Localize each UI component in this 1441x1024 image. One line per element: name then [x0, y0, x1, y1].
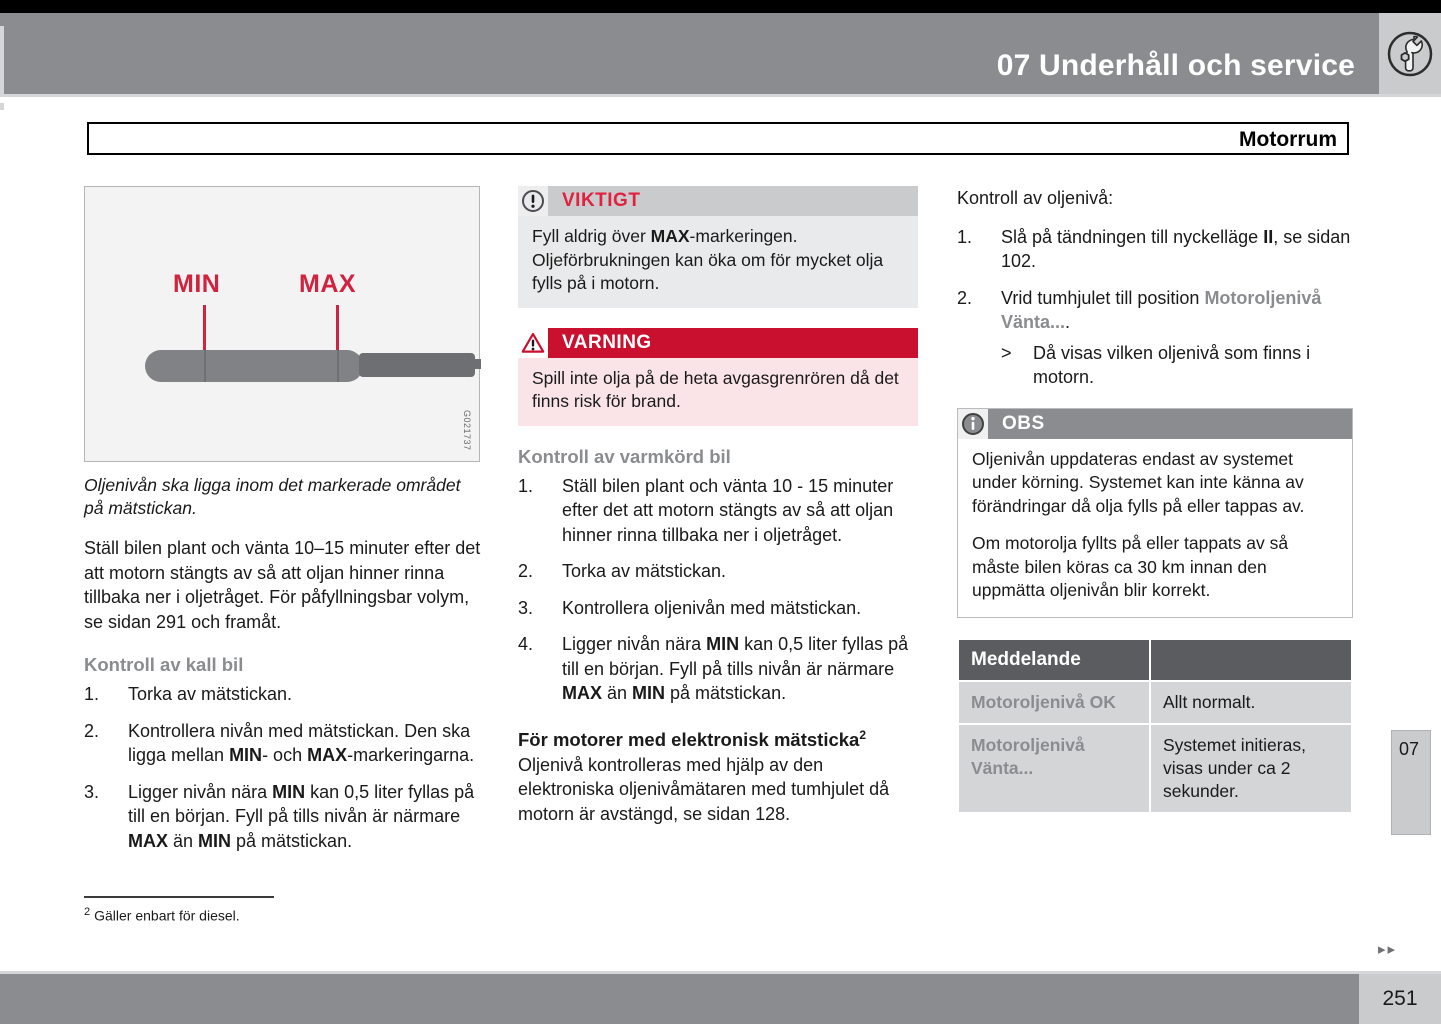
- list-item: 3.Ligger nivån nära MIN kan 0,5 liter fy…: [84, 780, 482, 854]
- list-item: 1.Torka av mätstickan.: [84, 682, 482, 707]
- chapter-side-tab: 07: [1391, 730, 1431, 835]
- step-text-part: Vrid tumhjulet till position: [1001, 288, 1204, 308]
- step-text: Kontrollera oljenivån med mätstickan.: [562, 598, 861, 618]
- sub-result-text: Då visas vilken oljenivå som finns i mot…: [1033, 343, 1310, 388]
- column-header-meddelande: Meddelande: [959, 640, 1149, 680]
- notice-header: OBS: [958, 409, 1352, 439]
- step-number: 2.: [84, 719, 118, 744]
- dipstick-shaft: [359, 353, 475, 377]
- footer-band: [0, 971, 1441, 1024]
- warning-triangle-icon: [518, 328, 548, 358]
- footnote: 2Gäller enbart för diesel.: [84, 906, 482, 924]
- list-item: 1.Slå på tändningen till nyckelläge II, …: [957, 225, 1353, 274]
- key-position: II: [1263, 227, 1273, 247]
- footnote-divider: [84, 896, 274, 898]
- table-header-row: Meddelande: [959, 640, 1351, 680]
- info-circle-icon: [958, 409, 988, 439]
- sub-result-list: >Då visas vilken oljenivå som finns i mo…: [1001, 341, 1353, 390]
- footnote-marker: 2: [859, 728, 866, 742]
- list-item: 3.Kontrollera oljenivån med mätstickan.: [518, 596, 918, 621]
- elektronisk-matsticka-body: Oljenivå kontrolleras med hjälp av den e…: [518, 753, 918, 827]
- dipstick-tip: [467, 359, 481, 369]
- step-text: Ligger nivån nära MIN kan 0,5 liter fyll…: [128, 782, 474, 851]
- figure-tick-max: [336, 305, 339, 353]
- dipstick-body: [145, 350, 363, 382]
- list-item: 4.Ligger nivån nära MIN kan 0,5 liter fy…: [518, 632, 918, 706]
- figure-tick-min: [203, 305, 206, 353]
- figure-code: G021737: [462, 410, 472, 451]
- step-number: 2.: [957, 286, 991, 311]
- notice-title: VIKTIGT: [562, 190, 640, 212]
- table-row: Motoroljenivå OK Allt normalt.: [959, 682, 1351, 723]
- right-lead-text: Kontroll av oljenivå:: [957, 186, 1353, 211]
- header-underline: [0, 97, 1441, 103]
- step-text: Ligger nivån nära MIN kan 0,5 liter fyll…: [562, 634, 908, 703]
- list-item: 2.Torka av mätstickan.: [518, 559, 918, 584]
- chapter-header-band: 07 Underhåll och service: [0, 13, 1441, 97]
- figure-label-max: MAX: [299, 270, 356, 299]
- arrow-marker: >: [1001, 341, 1012, 366]
- notice-header: VARNING: [518, 328, 918, 358]
- step-text: Vrid tumhjulet till position Motoroljeni…: [1001, 288, 1321, 333]
- right-column: Kontroll av oljenivå: 1.Slå på tändninge…: [957, 186, 1353, 814]
- step-number: 3.: [518, 596, 552, 621]
- step-number: 2.: [518, 559, 552, 584]
- heading-kontroll-varmkord-bil: Kontroll av varmkörd bil: [518, 446, 918, 468]
- heading-text: För motorer med elektronisk mätsticka: [518, 729, 859, 750]
- top-black-strip: [0, 0, 1441, 13]
- column-header-empty: [1151, 640, 1351, 680]
- dipstick-figure: MIN MAX G021737: [84, 186, 480, 462]
- obs-paragraph-1: Oljenivån uppdateras endast av systemet …: [972, 448, 1338, 519]
- notice-body: Spill inte olja på de heta avgasgrenröre…: [518, 358, 918, 426]
- step-number: 3.: [84, 780, 118, 805]
- exclamation-circle-icon: [518, 186, 548, 216]
- middle-column: VIKTIGT Fyll aldrig över MAX-markeringen…: [518, 186, 918, 826]
- left-intro-paragraph: Ställ bilen plant och vänta 10–15 minute…: [84, 536, 482, 634]
- section-title: Motorrum: [1239, 128, 1337, 152]
- middle-steps-list: 1.Ställ bilen plant och vänta 10 - 15 mi…: [518, 474, 918, 706]
- footnote-marker: 2: [84, 906, 90, 918]
- notice-viktigt: VIKTIGT Fyll aldrig över MAX-markeringen…: [518, 186, 918, 308]
- step-number: 1.: [518, 474, 552, 499]
- section-title-box: Motorrum: [87, 122, 1349, 155]
- list-item: 1.Ställ bilen plant och vänta 10 - 15 mi…: [518, 474, 918, 548]
- notice-obs: OBS Oljenivån uppdateras endast av syste…: [957, 408, 1353, 618]
- footnote-area: 2Gäller enbart för diesel.: [84, 896, 482, 924]
- footnote-text: Gäller enbart för diesel.: [94, 908, 240, 924]
- heading-kontroll-kall-bil: Kontroll av kall bil: [84, 654, 482, 676]
- step-text-part: .: [1065, 312, 1070, 332]
- cell-message-term: Motoroljenivå Vänta...: [959, 725, 1149, 812]
- message-table: Meddelande Motoroljenivå OK Allt normalt…: [957, 638, 1353, 814]
- step-text: Torka av mätstickan.: [562, 561, 726, 581]
- dipstick-mark-max: [337, 350, 339, 382]
- notice-header: VIKTIGT: [518, 186, 918, 216]
- step-text: Ställ bilen plant och vänta 10 - 15 minu…: [562, 476, 893, 545]
- notice-varning: VARNING Spill inte olja på de heta avgas…: [518, 328, 918, 426]
- wrench-icon: [1379, 13, 1441, 94]
- notice-title: OBS: [1002, 413, 1045, 435]
- notice-body: Oljenivån uppdateras endast av systemet …: [958, 439, 1352, 617]
- page-number: 251: [1382, 987, 1417, 1011]
- page-title: 07 Underhåll och service: [997, 49, 1355, 83]
- left-column: MIN MAX G021737 Oljenivån ska ligga inom…: [84, 186, 482, 865]
- step-text: Slå på tändningen till nyckelläge II, se…: [1001, 227, 1350, 272]
- obs-paragraph-2: Om motorolja fyllts på eller tappats av …: [972, 532, 1338, 603]
- notice-body: Fyll aldrig över MAX-markeringen. Oljefö…: [518, 216, 918, 308]
- step-number: 1.: [84, 682, 118, 707]
- dipstick-mark-min: [204, 350, 206, 382]
- chapter-side-tab-label: 07: [1399, 739, 1419, 760]
- heading-elektronisk-matsticka: För motorer med elektronisk mätsticka2: [518, 728, 918, 751]
- step-text: Kontrollera nivån med mätstickan. Den sk…: [128, 721, 474, 766]
- page-number-box: 251: [1359, 974, 1441, 1024]
- step-number: 4.: [518, 632, 552, 657]
- right-steps-list: 1.Slå på tändningen till nyckelläge II, …: [957, 225, 1353, 390]
- next-page-arrows-icon: ▸▸: [1378, 940, 1397, 958]
- step-number: 1.: [957, 225, 991, 250]
- cell-message-term: Motoroljenivå OK: [959, 682, 1149, 723]
- left-steps-list: 1.Torka av mätstickan. 2.Kontrollera niv…: [84, 682, 482, 853]
- cell-message-desc: Systemet initieras, visas under ca 2 sek…: [1151, 725, 1351, 812]
- list-item: >Då visas vilken oljenivå som finns i mo…: [1001, 341, 1353, 390]
- table-row: Motoroljenivå Vänta... Systemet initiera…: [959, 725, 1351, 812]
- list-item: 2.Vrid tumhjulet till position Motorolje…: [957, 286, 1353, 390]
- notice-title: VARNING: [562, 332, 652, 354]
- list-item: 2.Kontrollera nivån med mätstickan. Den …: [84, 719, 482, 768]
- figure-label-min: MIN: [173, 270, 220, 299]
- cell-message-desc: Allt normalt.: [1151, 682, 1351, 723]
- figure-caption: Oljenivån ska ligga inom det markerade o…: [84, 474, 482, 520]
- step-text-part: Slå på tändningen till nyckelläge: [1001, 227, 1263, 247]
- step-text: Torka av mätstickan.: [128, 684, 292, 704]
